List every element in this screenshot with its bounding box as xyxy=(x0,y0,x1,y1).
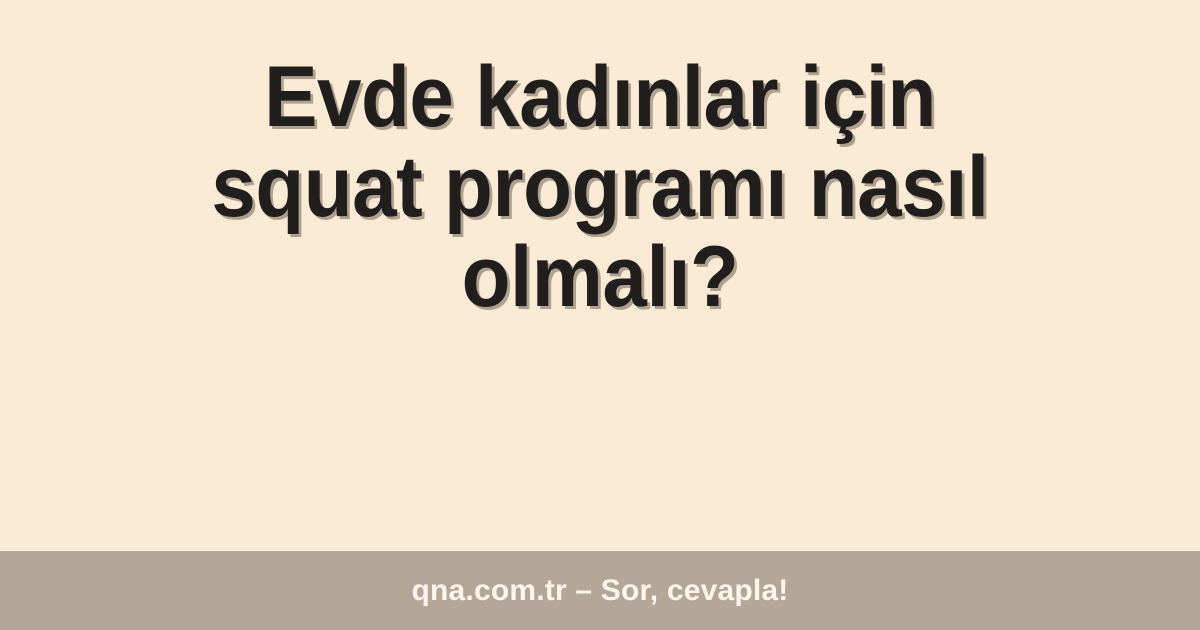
headline-line-3: olmalı? xyxy=(107,232,1093,322)
headline-line-2: squat programı nasıl xyxy=(107,142,1093,232)
social-share-card: Evde kadınlar için squat programı nasıl … xyxy=(0,0,1200,630)
footer-bar: qna.com.tr – Sor, cevapla! xyxy=(0,551,1200,630)
page-title: Evde kadınlar için squat programı nasıl … xyxy=(70,52,1130,322)
headline-area: Evde kadınlar için squat programı nasıl … xyxy=(0,0,1200,551)
footer-branding-text: qna.com.tr – Sor, cevapla! xyxy=(411,574,788,608)
headline-line-1: Evde kadınlar için xyxy=(107,52,1093,142)
